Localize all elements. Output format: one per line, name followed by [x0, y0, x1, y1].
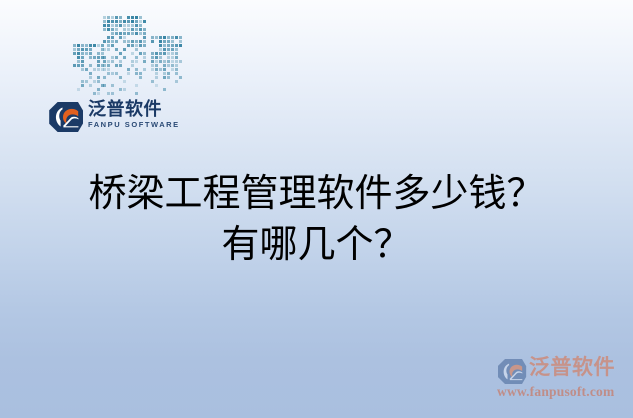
watermark-fanpu-hexagon-swoosh-logo-icon: [497, 358, 527, 385]
page-title-line-1: 桥梁工程管理软件多少钱？: [0, 168, 633, 219]
watermark-chinese-name: 泛普软件: [529, 355, 615, 380]
brand-text-block: 泛普软件 FANPU SOFTWARE: [88, 99, 188, 130]
poster-canvas: 泛普软件 FANPU SOFTWARE 桥梁工程管理软件多少钱？ 有哪几个？ 泛…: [0, 0, 633, 418]
brand-logo: 泛普软件 FANPU SOFTWARE: [48, 99, 186, 137]
pixel-city-graphic: [73, 16, 181, 96]
watermark-url: www.fanpusoft.com: [497, 384, 614, 400]
fanpu-hexagon-swoosh-logo-icon: [48, 101, 84, 133]
brand-chinese-name: 泛普软件: [88, 99, 188, 120]
page-title: 桥梁工程管理软件多少钱？ 有哪几个？: [0, 168, 633, 270]
page-title-line-2: 有哪几个？: [0, 219, 633, 270]
watermark: 泛普软件 www.fanpusoft.com: [495, 354, 627, 406]
brand-english-name: FANPU SOFTWARE: [88, 120, 188, 130]
